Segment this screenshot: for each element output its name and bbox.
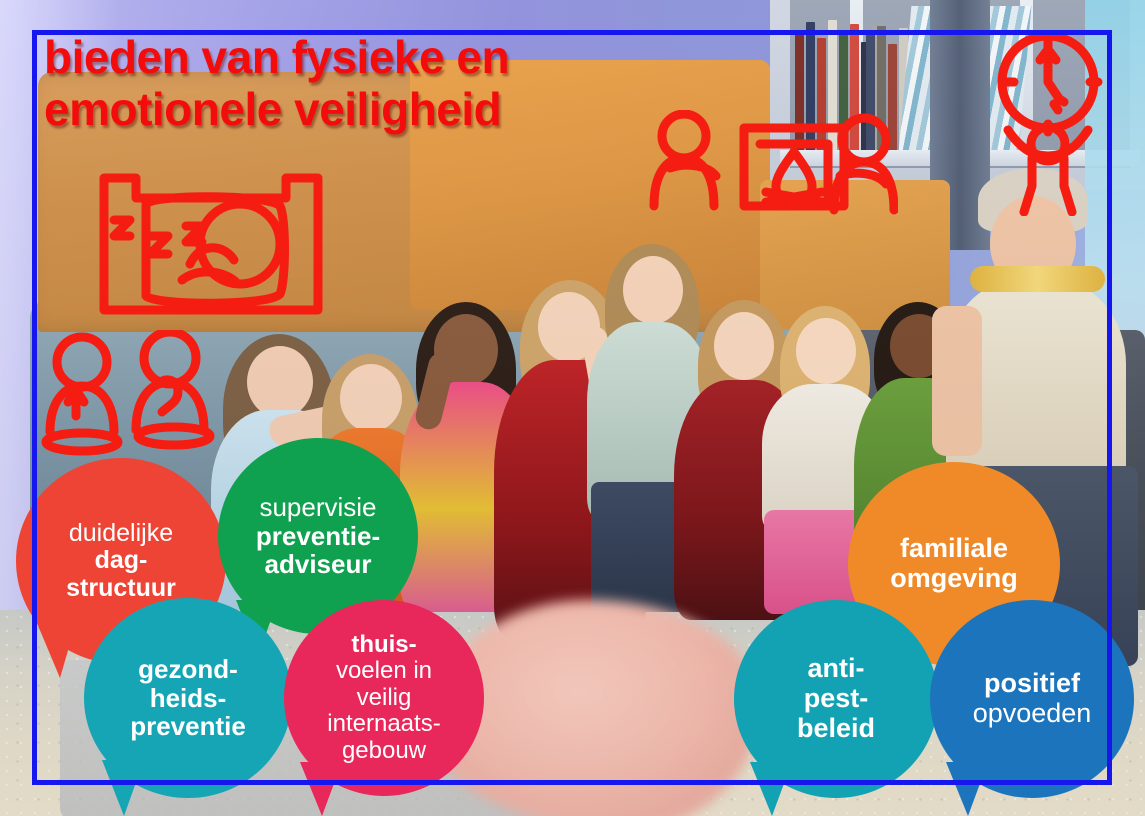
bubble-text-light: voelen in: [327, 658, 440, 684]
title-line: bieden van fysieke en: [44, 32, 744, 84]
bubble-text-light: internaats-: [327, 711, 440, 737]
bubble-text-bold: preventie-: [256, 522, 380, 551]
person-holding-clock-icon: [988, 26, 1108, 216]
bubble-text-bold: pest-: [797, 684, 875, 714]
bubble-tail: [300, 762, 342, 816]
bubble-tail: [750, 762, 792, 816]
bubble-text-light: duidelijke: [66, 520, 176, 548]
bubble-tail: [946, 762, 988, 816]
bubble-text-bold: beleid: [797, 714, 875, 744]
bubble-tail: [102, 760, 144, 816]
bubble-text-bold: preventie: [130, 712, 246, 741]
bubble-text-bold: positief: [973, 669, 1092, 699]
bubble-text-light: opvoeden: [973, 699, 1092, 729]
bubble-text-bold: structuur: [66, 575, 176, 603]
sleeping-in-bed-icon: [90, 160, 330, 325]
bubble-text-bold: dag-: [66, 547, 176, 575]
bubble-text-light: veilig: [327, 685, 440, 711]
bubble-text-bold: anti-: [797, 654, 875, 684]
bubble-text-bold: gezond-: [130, 655, 246, 684]
people-eating-at-table-icon: [36, 330, 226, 460]
poster: duidelijke dag- structuur supervisie pre…: [0, 0, 1145, 816]
bubble-text-bold: heids-: [130, 684, 246, 713]
page-title: bieden van fysieke en emotionele veiligh…: [44, 32, 744, 135]
bubble-text-bold: familiale: [890, 534, 1018, 564]
bubble-text-bold: omgeving: [890, 564, 1018, 594]
bubble-text-bold: thuis-: [327, 632, 440, 658]
bubble-text-light: gebouw: [327, 738, 440, 764]
bubble-text-light: supervisie: [256, 493, 380, 522]
bubble-text-bold: adviseur: [256, 550, 380, 579]
bubble-tail: [34, 616, 78, 678]
title-line: emotionele veiligheid: [44, 84, 744, 136]
